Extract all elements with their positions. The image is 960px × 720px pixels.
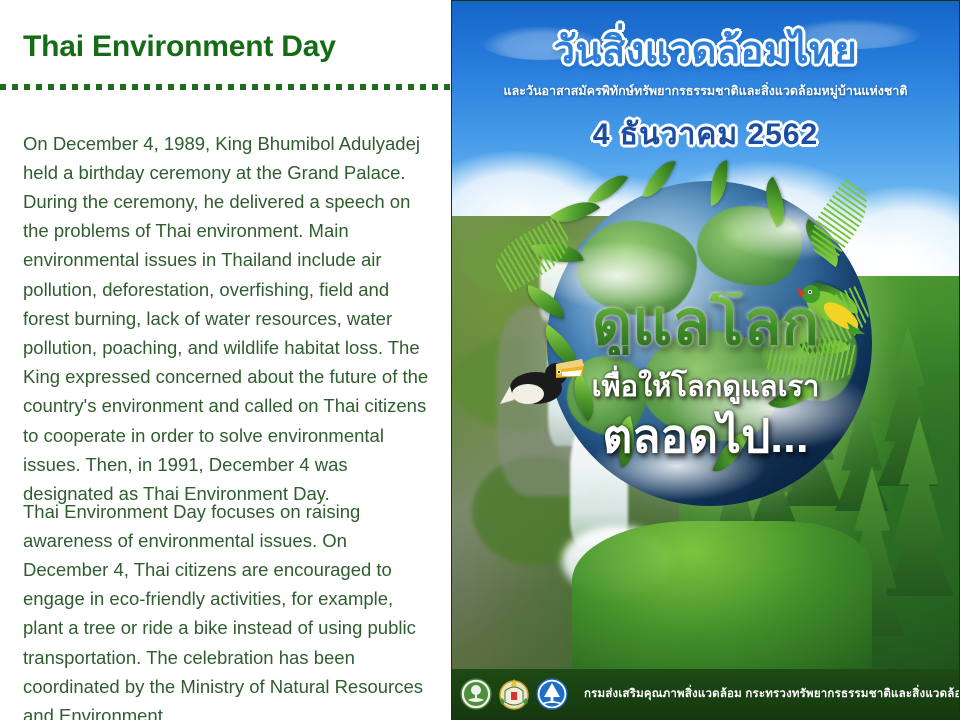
poster-slogan-sub: เพื่อให้โลกดูแลเรา [452, 373, 959, 402]
page-title: Thai Environment Day [23, 30, 336, 64]
thai-environment-day-poster: วันสิ่งแวดล้อมไทย และวันอาสาสมัครพิทักษ์… [451, 0, 960, 720]
meadow [572, 521, 872, 671]
article-text-column: Thai Environment Day On December 4, 1989… [0, 0, 451, 720]
poster-footer-bar: กรมส่งเสริมคุณภาพสิ่งแวดล้อม กระทรวงทรัพ… [452, 669, 959, 719]
body-paragraph-2: Thai Environment Day focuses on raising … [23, 497, 433, 720]
poster-slogan-tail: ตลอดไป... [452, 413, 959, 459]
dotted-divider [0, 84, 451, 90]
poster-slogan-main: ดูแลโลก [452, 293, 959, 355]
poster-footer-text: กรมส่งเสริมคุณภาพสิ่งแวดล้อม กระทรวงทรัพ… [584, 685, 960, 703]
thai-ministry-garuda-emblem-icon [498, 678, 530, 710]
body-paragraph-1: On December 4, 1989, King Bhumibol Aduly… [23, 129, 433, 509]
green-tree-circle-emblem-icon [460, 678, 492, 710]
poster-header-date: 4 ธันวาคม 2562 [452, 111, 959, 158]
slide-canvas: Thai Environment Day On December 4, 1989… [0, 0, 960, 720]
poster-header-subtitle: และวันอาสาสมัครพิทักษ์ทรัพยากรธรรมชาติแล… [452, 81, 959, 101]
poster-header-title: วันสิ่งแวดล้อมไทย [452, 19, 959, 80]
blue-tree-circle-emblem-icon [536, 678, 568, 710]
